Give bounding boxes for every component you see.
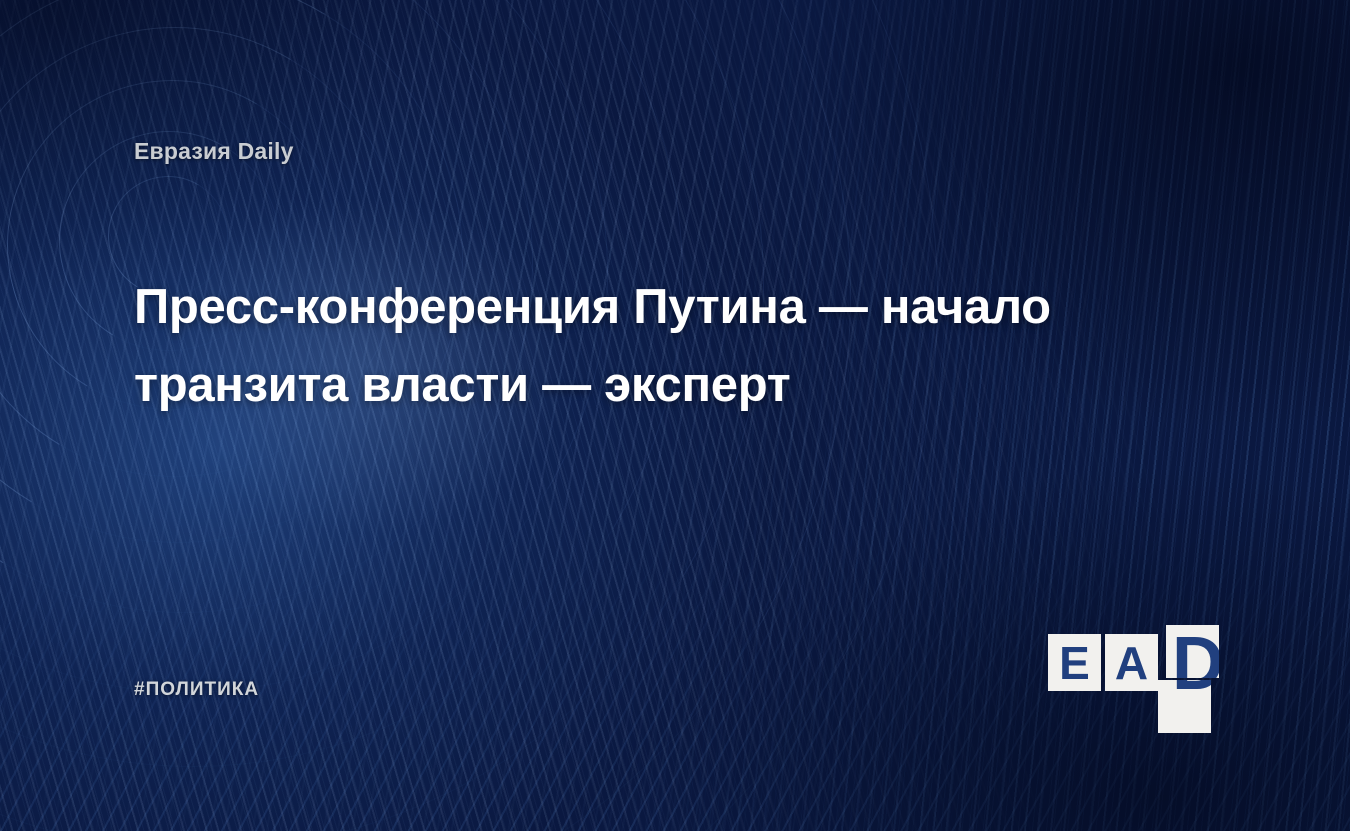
ead-logo-letter-d-lower: D xyxy=(1158,680,1211,733)
page-title: Пресс-конференция Путина — начало транзи… xyxy=(134,268,1194,424)
ead-logo-letter-a: A xyxy=(1105,634,1158,691)
category-tag: #ПОЛИТИКА xyxy=(134,679,259,701)
ead-logo-d-glyph-upper: D xyxy=(1172,627,1219,678)
article-cover-card: Евразия Daily Пресс-конференция Путина —… xyxy=(0,0,1350,831)
brand-name: Евразия Daily xyxy=(134,138,294,165)
ead-logo-letter-d-upper: D xyxy=(1166,625,1219,678)
ead-logo-letter-e: E xyxy=(1048,634,1101,691)
cover-content: Евразия Daily Пресс-конференция Путина —… xyxy=(0,0,1350,831)
ead-logo: E A D D xyxy=(1048,625,1228,727)
ead-logo-d-glyph-lower: D xyxy=(1172,680,1211,701)
